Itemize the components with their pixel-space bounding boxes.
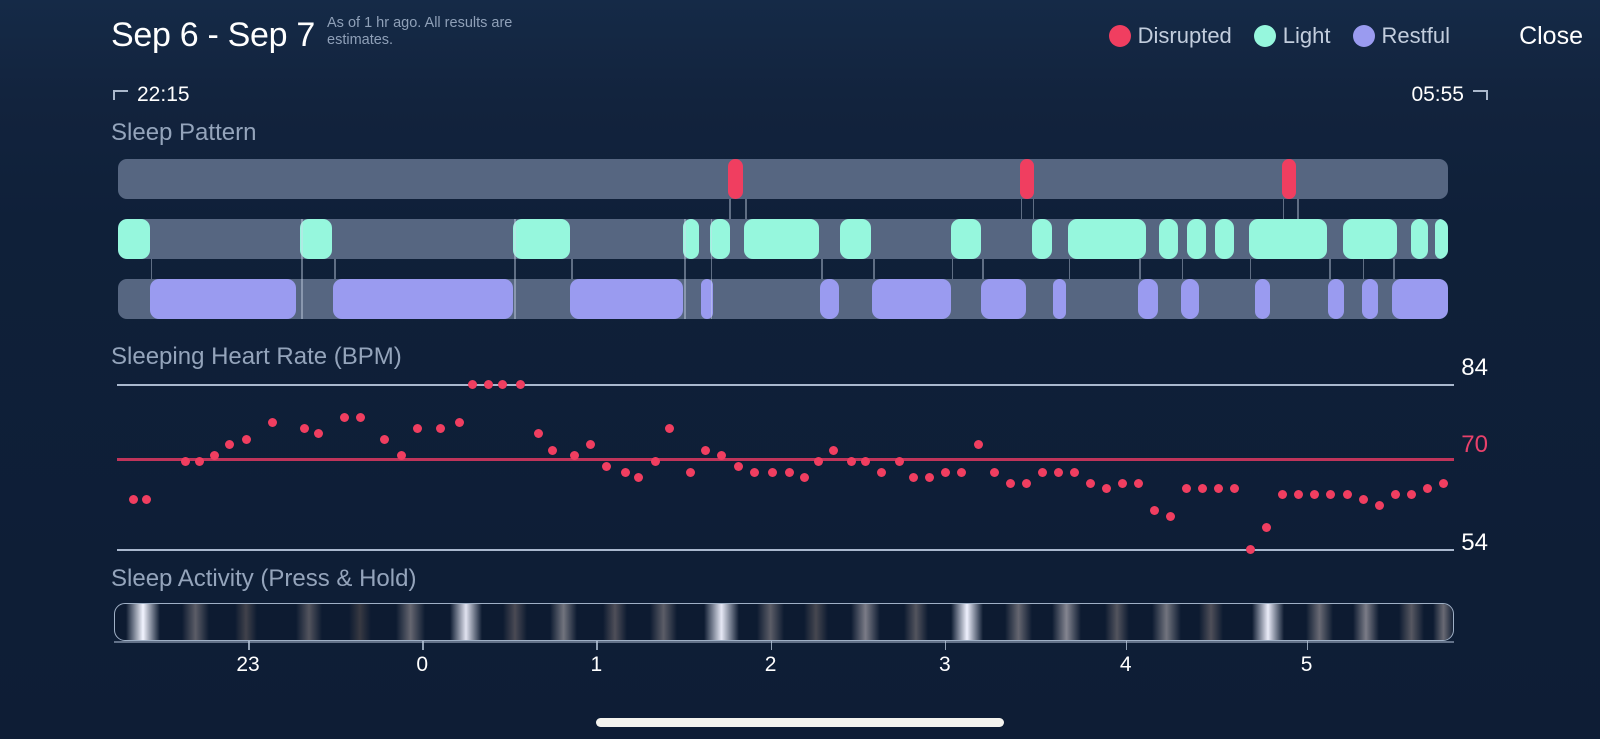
heart-rate-point xyxy=(957,468,966,477)
heart-rate-point xyxy=(1038,468,1047,477)
heart-rate-point xyxy=(602,462,611,471)
connector-line xyxy=(1021,199,1023,219)
connector-line xyxy=(745,199,747,219)
heart-rate-point xyxy=(895,457,904,466)
activity-band xyxy=(450,604,482,640)
connector-line xyxy=(711,219,713,319)
connector-line xyxy=(1033,199,1035,219)
heart-rate-point xyxy=(413,424,422,433)
header-subtitle: As of 1 hr ago. All results are estimate… xyxy=(327,15,542,49)
axis-tick xyxy=(1307,641,1309,650)
heart-rate-point xyxy=(768,468,777,477)
heart-rate-point xyxy=(1102,484,1111,493)
axis-tick-label: 2 xyxy=(765,653,777,677)
heart-rate-point xyxy=(586,440,595,449)
connector-line xyxy=(571,259,573,279)
sleeping-heart-rate-label: Sleeping Heart Rate (BPM) xyxy=(111,343,402,371)
heart-rate-point xyxy=(484,380,493,389)
circle-icon xyxy=(1353,25,1375,47)
connector-line xyxy=(1329,259,1331,279)
heart-rate-point xyxy=(1246,545,1255,554)
circle-icon xyxy=(1109,25,1131,47)
heart-rate-point xyxy=(1230,484,1239,493)
connector-line xyxy=(1363,259,1365,279)
activity-band xyxy=(757,604,784,640)
sleep-activity-label: Sleep Activity (Press & Hold) xyxy=(111,565,416,593)
activity-band xyxy=(904,604,928,640)
heart-rate-point xyxy=(1070,468,1079,477)
heart-rate-point xyxy=(210,451,219,460)
connector-line xyxy=(514,219,516,319)
heart-rate-point xyxy=(634,473,643,482)
heart-rate-point xyxy=(1214,484,1223,493)
heart-rate-point xyxy=(686,468,695,477)
legend-item-restful: Restful xyxy=(1353,23,1450,49)
circle-icon xyxy=(1254,25,1276,47)
range-end: 05:55 xyxy=(1411,83,1488,107)
legend-label: Disrupted xyxy=(1138,23,1232,49)
connector-line xyxy=(1182,259,1184,279)
heart-rate-point xyxy=(498,380,507,389)
axis-tick xyxy=(596,641,598,650)
connector-line xyxy=(982,259,984,279)
axis-tick xyxy=(1126,641,1128,650)
heart-rate-point xyxy=(314,429,323,438)
heart-rate-point xyxy=(1150,506,1159,515)
heart-rate-point xyxy=(665,424,674,433)
bracket-right-icon xyxy=(1473,90,1488,100)
sleep-pattern-label: Sleep Pattern xyxy=(111,119,256,147)
heart-rate-point xyxy=(1439,479,1448,488)
activity-band xyxy=(550,604,577,640)
heart-rate-point xyxy=(974,440,983,449)
heart-rate-point xyxy=(1343,490,1352,499)
heart-rate-point xyxy=(717,451,726,460)
activity-band xyxy=(296,604,323,640)
heart-rate-point xyxy=(651,457,660,466)
heart-rate-point xyxy=(1407,490,1416,499)
heart-rate-min-value: 54 xyxy=(1461,529,1488,557)
connector-line xyxy=(1393,259,1395,279)
activity-band xyxy=(1052,604,1081,640)
heart-rate-point xyxy=(397,451,406,460)
heart-rate-point xyxy=(1326,490,1335,499)
heart-rate-point xyxy=(1310,490,1319,499)
heart-rate-point xyxy=(861,457,870,466)
activity-band xyxy=(396,604,425,640)
heart-rate-point xyxy=(340,413,349,422)
connector-line xyxy=(1069,259,1071,279)
heart-rate-point xyxy=(1086,479,1095,488)
stage-connector-lines xyxy=(118,159,1448,319)
activity-band xyxy=(951,604,983,640)
heart-rate-point xyxy=(129,495,138,504)
activity-band xyxy=(1199,604,1223,640)
heart-rate-point xyxy=(1118,479,1127,488)
heart-rate-point xyxy=(195,457,204,466)
heart-rate-point xyxy=(1278,490,1287,499)
connector-line xyxy=(334,259,336,279)
activity-band xyxy=(650,604,677,640)
connector-line xyxy=(1297,199,1299,219)
heart-rate-point xyxy=(701,446,710,455)
heart-rate-average-value: 70 xyxy=(1461,431,1488,459)
heart-rate-point xyxy=(356,413,365,422)
connector-line xyxy=(952,259,954,279)
connector-line xyxy=(873,259,875,279)
heart-rate-points xyxy=(117,378,1454,554)
heart-rate-point xyxy=(268,418,277,427)
axis-tick xyxy=(248,641,250,650)
activity-band xyxy=(235,604,256,640)
activity-band xyxy=(182,604,209,640)
sleep-pattern-chart[interactable] xyxy=(118,159,1448,319)
connector-line xyxy=(301,219,303,319)
heart-rate-point xyxy=(750,468,759,477)
home-indicator[interactable] xyxy=(596,718,1004,727)
axis-tick-label: 4 xyxy=(1120,653,1132,677)
axis-tick-label: 23 xyxy=(236,653,259,677)
heart-rate-point xyxy=(800,473,809,482)
axis-tick xyxy=(945,641,947,650)
legend: DisruptedLightRestful xyxy=(1109,20,1472,52)
heart-rate-point xyxy=(734,462,743,471)
heart-rate-point xyxy=(534,429,543,438)
range-start: 22:15 xyxy=(113,83,190,107)
connector-line xyxy=(1250,259,1252,279)
activity-band xyxy=(804,604,828,640)
time-range-row: 22:15 05:55 xyxy=(0,83,1600,113)
heart-rate-point xyxy=(1262,523,1271,532)
activity-band xyxy=(1105,604,1129,640)
heart-rate-point xyxy=(1391,490,1400,499)
connector-line xyxy=(1283,199,1285,219)
heart-rate-point xyxy=(1359,495,1368,504)
heart-rate-point xyxy=(814,457,823,466)
heart-rate-point xyxy=(847,457,856,466)
axis-tick-label: 0 xyxy=(416,653,428,677)
heart-rate-chart[interactable] xyxy=(117,378,1454,554)
heart-rate-point xyxy=(300,424,309,433)
heart-rate-point xyxy=(1375,501,1384,510)
heart-rate-point xyxy=(436,424,445,433)
heart-rate-point xyxy=(829,446,838,455)
sleep-activity-heatmap[interactable] xyxy=(114,603,1454,641)
activity-band xyxy=(1252,604,1284,640)
legend-item-disrupted: Disrupted xyxy=(1109,23,1232,49)
heart-rate-point xyxy=(1198,484,1207,493)
activity-band xyxy=(1433,604,1454,640)
activity-band xyxy=(704,604,739,640)
time-axis: 23012345 xyxy=(114,641,1454,681)
end-time-label: 05:55 xyxy=(1411,83,1464,107)
connector-line xyxy=(821,259,823,279)
heart-rate-point xyxy=(1054,468,1063,477)
connector-line xyxy=(151,259,153,279)
heart-rate-point xyxy=(142,495,151,504)
start-time-label: 22:15 xyxy=(137,83,190,107)
axis-tick-label: 1 xyxy=(591,653,603,677)
heart-rate-point xyxy=(621,468,630,477)
activity-band xyxy=(1005,604,1032,640)
heart-rate-point xyxy=(909,473,918,482)
connector-line xyxy=(729,199,731,219)
legend-item-light: Light xyxy=(1254,23,1331,49)
activity-band xyxy=(349,604,370,640)
activity-band xyxy=(126,604,161,640)
heart-rate-point xyxy=(925,473,934,482)
heart-rate-point xyxy=(548,446,557,455)
close-button[interactable]: Close xyxy=(1519,20,1583,52)
heart-rate-point xyxy=(941,468,950,477)
heart-rate-point xyxy=(380,435,389,444)
axis-tick-label: 3 xyxy=(939,653,951,677)
activity-band xyxy=(503,604,527,640)
heart-rate-point xyxy=(1182,484,1191,493)
heart-rate-point xyxy=(1166,512,1175,521)
heart-rate-point xyxy=(1294,490,1303,499)
heart-rate-point xyxy=(468,380,477,389)
heart-rate-point xyxy=(455,418,464,427)
heart-rate-point xyxy=(570,451,579,460)
activity-band xyxy=(851,604,880,640)
page-title: Sep 6 - Sep 7 xyxy=(111,16,315,55)
activity-bands xyxy=(115,604,1453,640)
heart-rate-point xyxy=(1006,479,1015,488)
heart-rate-point xyxy=(516,380,525,389)
heart-rate-point xyxy=(877,468,886,477)
heart-rate-point xyxy=(1022,479,1031,488)
activity-band xyxy=(1399,604,1423,640)
header: Sep 6 - Sep 7 As of 1 hr ago. All result… xyxy=(0,0,1600,72)
heart-rate-point xyxy=(1423,484,1432,493)
axis-line xyxy=(114,641,1454,643)
legend-label: Light xyxy=(1283,23,1331,49)
heart-rate-point xyxy=(990,468,999,477)
heart-rate-point xyxy=(1134,479,1143,488)
heart-rate-max-value: 84 xyxy=(1461,354,1488,382)
heart-rate-point xyxy=(242,435,251,444)
heart-rate-point xyxy=(785,468,794,477)
activity-band xyxy=(603,604,627,640)
bracket-left-icon xyxy=(113,90,128,100)
heart-rate-point xyxy=(225,440,234,449)
heart-rate-point xyxy=(181,457,190,466)
activity-band xyxy=(1306,604,1333,640)
axis-tick xyxy=(422,641,424,650)
activity-band xyxy=(1353,604,1380,640)
legend-label: Restful xyxy=(1382,23,1450,49)
connector-line xyxy=(1139,259,1141,279)
activity-band xyxy=(1152,604,1181,640)
connector-line xyxy=(684,219,686,319)
axis-tick xyxy=(771,641,773,650)
axis-tick-label: 5 xyxy=(1301,653,1313,677)
